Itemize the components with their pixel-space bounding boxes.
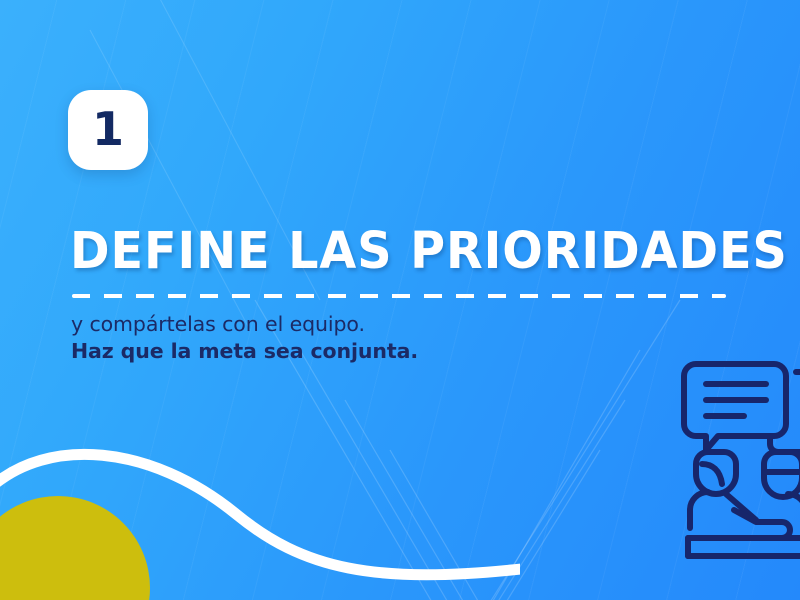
meeting-illustration-icon	[678, 352, 800, 564]
person-right-icon	[764, 452, 800, 520]
subtitle-block: y compártelas con el equipo. Haz que la …	[71, 311, 691, 365]
subtitle-line-2: Haz que la meta sea conjunta.	[71, 338, 691, 365]
table-icon	[688, 538, 800, 556]
step-number-badge: 1	[68, 90, 148, 170]
step-number-label: 1	[92, 106, 124, 152]
page-title: DEFINE LAS PRIORIDADES	[70, 226, 706, 277]
subtitle-line-1: y compártelas con el equipo.	[71, 311, 691, 338]
slide-canvas: 1 DEFINE LAS PRIORIDADES y compártelas c…	[0, 0, 800, 600]
bottom-decoration	[0, 420, 520, 600]
dashed-divider	[72, 294, 726, 298]
